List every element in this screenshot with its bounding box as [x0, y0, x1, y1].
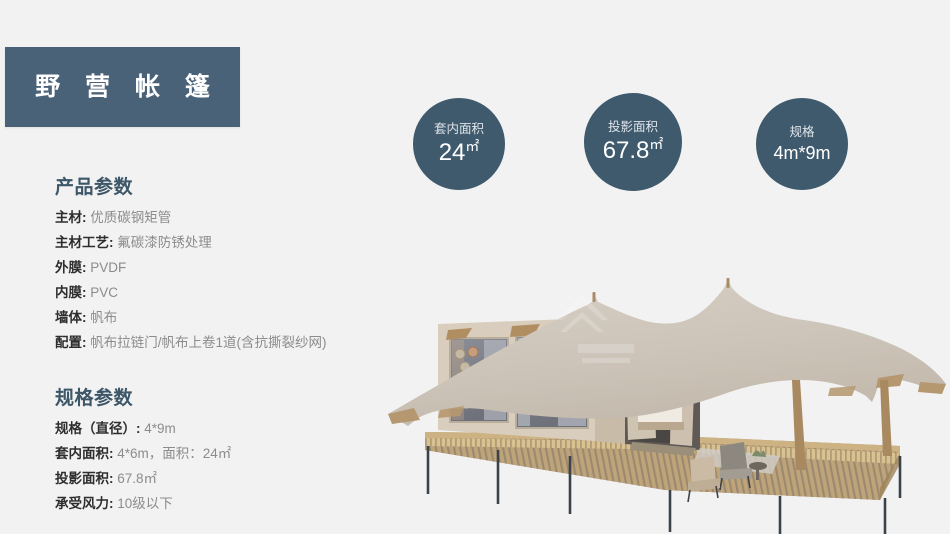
spec-value: 4*9m — [144, 421, 176, 436]
spec-value: 4*6m，面积：24㎡ — [117, 446, 231, 461]
spec-value: 67.8㎡ — [117, 471, 157, 486]
badge-value: 67.8㎡ — [603, 138, 664, 163]
spec-row: 外膜: PVDF — [55, 255, 385, 280]
badge-interior-area: 套内面积 24㎡ — [413, 98, 505, 190]
spec-row: 墙体: 帆布 — [55, 305, 385, 330]
spec-label: 内膜: — [55, 285, 87, 300]
badge-number: 4m*9m — [773, 143, 830, 163]
spec-value: 优质碳钢矩管 — [90, 210, 171, 225]
tent-illustration — [380, 198, 950, 534]
spec-column: 产品参数 主材: 优质碳钢矩管 主材工艺: 氟碳漆防锈处理 外膜: PVDF 内… — [55, 172, 385, 516]
spec-label: 墙体: — [55, 310, 87, 325]
badge-value: 4m*9m — [773, 144, 830, 162]
spec-row: 内膜: PVC — [55, 280, 385, 305]
badge-number: 67.8 — [603, 137, 650, 164]
spec-row: 投影面积: 67.8㎡ — [55, 466, 385, 491]
spec-value: 10级以下 — [117, 496, 173, 511]
badge-number: 24 — [439, 139, 466, 166]
badge-projected-area: 投影面积 67.8㎡ — [584, 93, 682, 191]
section-heading-product: 产品参数 — [55, 172, 385, 199]
badge-label: 规格 — [789, 126, 814, 139]
badge-value: 24㎡ — [439, 140, 480, 165]
spec-row: 配置: 帆布拉链门/帆布上卷1道(含抗撕裂纱网) — [55, 330, 385, 355]
badge-dimensions: 规格 4m*9m — [756, 98, 848, 190]
badge-unit: ㎡ — [649, 136, 663, 152]
page-title: 野 营 帐 篷 — [26, 75, 219, 100]
product-spec-page: 野 营 帐 篷 产品参数 主材: 优质碳钢矩管 主材工艺: 氟碳漆防锈处理 外膜… — [0, 0, 950, 534]
spec-value: 帆布 — [90, 310, 117, 325]
badge-label: 投影面积 — [608, 121, 658, 134]
spec-value: 氟碳漆防锈处理 — [117, 235, 212, 250]
page-title-banner: 野 营 帐 篷 — [5, 47, 240, 127]
spec-label: 承受风力: — [55, 496, 114, 511]
spec-section-dimensions: 规格参数 规格（直径）: 4*9m 套内面积: 4*6m，面积：24㎡ 投影面积… — [55, 383, 385, 516]
spec-label: 主材工艺: — [55, 235, 114, 250]
spec-label: 配置: — [55, 335, 87, 350]
spec-row: 规格（直径）: 4*9m — [55, 416, 385, 441]
spec-row: 主材: 优质碳钢矩管 — [55, 205, 385, 230]
spec-row: 承受风力: 10级以下 — [55, 491, 385, 516]
spec-label: 投影面积: — [55, 471, 114, 486]
spec-row: 主材工艺: 氟碳漆防锈处理 — [55, 230, 385, 255]
spec-label: 外膜: — [55, 260, 87, 275]
badge-unit: ㎡ — [465, 138, 479, 154]
badge-label: 套内面积 — [434, 123, 484, 136]
spec-section-product: 产品参数 主材: 优质碳钢矩管 主材工艺: 氟碳漆防锈处理 外膜: PVDF 内… — [55, 172, 385, 355]
spec-row: 套内面积: 4*6m，面积：24㎡ — [55, 441, 385, 466]
spec-label: 规格（直径）: — [55, 421, 141, 436]
spec-value: 帆布拉链门/帆布上卷1道(含抗撕裂纱网) — [90, 335, 326, 350]
section-heading-dimensions: 规格参数 — [55, 383, 385, 410]
spec-label: 主材: — [55, 210, 87, 225]
spec-label: 套内面积: — [55, 446, 114, 461]
spec-value: PVC — [90, 285, 118, 300]
spec-value: PVDF — [90, 260, 126, 275]
